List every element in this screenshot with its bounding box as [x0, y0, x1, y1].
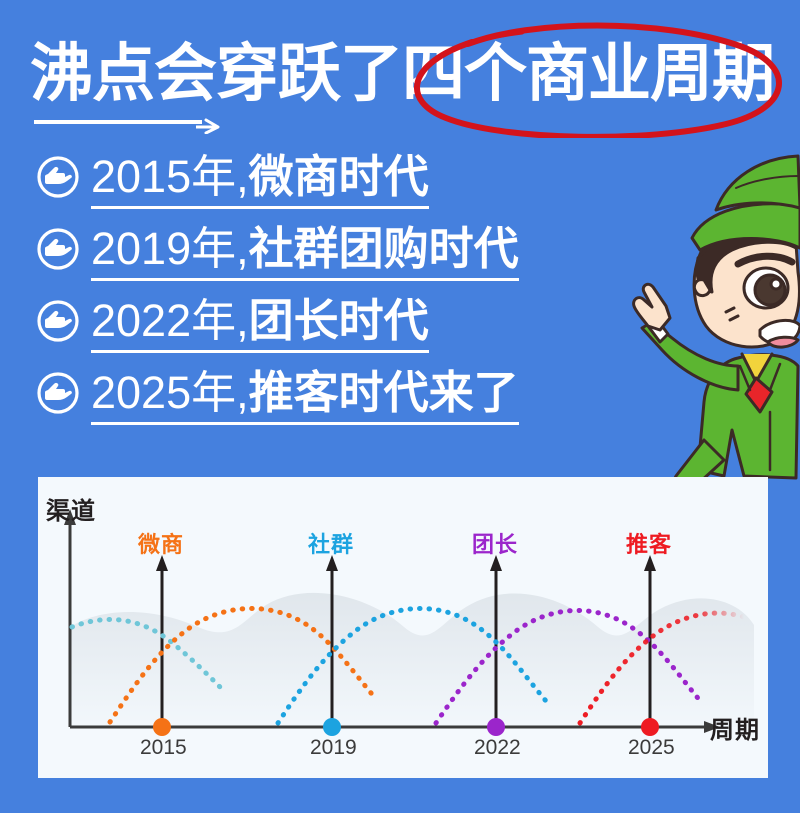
list-item-era: 微商时代 — [249, 151, 429, 202]
list-item-label: 2025年,推客时代来了 — [91, 366, 519, 425]
tick-label-2025: 2025 — [628, 736, 675, 760]
cycle-curves-chart — [38, 477, 768, 778]
bullet-list: 2015年,微商时代 2019年,社群团购时代 2022年,团长时代 2025年… — [36, 150, 636, 438]
list-item[interactable]: 2019年,社群团购时代 — [36, 222, 636, 294]
pointing-hand-circle-icon — [36, 299, 80, 343]
list-item-label: 2019年,社群团购时代 — [91, 222, 519, 281]
tick-label-2019: 2019 — [310, 736, 357, 760]
pointing-hand-circle-icon — [36, 227, 80, 271]
list-item-year: 2015年, — [91, 151, 249, 202]
title-underline-rule — [34, 120, 202, 124]
list-item[interactable]: 2015年,微商时代 — [36, 150, 636, 222]
chart-panel: 渠道 周期 微商 社群 团长 推客 2015 2019 2022 2025 — [38, 477, 768, 778]
headline-middle: 穿跃了 — [216, 38, 402, 110]
pointing-hand-circle-icon — [36, 155, 80, 199]
tick-label-2015: 2015 — [140, 736, 187, 760]
list-item[interactable]: 2022年,团长时代 — [36, 294, 636, 366]
list-item-label: 2015年,微商时代 — [91, 150, 429, 209]
era-label-tuike: 推客 — [626, 527, 672, 559]
headline-circled: 四个商业周期 — [402, 38, 774, 110]
arrow-right-icon — [196, 118, 220, 134]
list-item[interactable]: 2025年,推客时代来了 — [36, 366, 636, 438]
marker-dot-2019[interactable] — [323, 718, 341, 736]
list-item-label: 2022年,团长时代 — [91, 294, 429, 353]
list-item-year: 2022年, — [91, 295, 249, 346]
marker-dot-2025[interactable] — [641, 718, 659, 736]
marker-dot-2022[interactable] — [487, 718, 505, 736]
list-item-era: 推客时代来了 — [249, 367, 519, 418]
era-label-weishang: 微商 — [138, 527, 184, 559]
page-title: 沸点会穿跃了四个商业周期 — [30, 38, 790, 116]
era-label-tuanzhang: 团长 — [472, 527, 518, 559]
list-item-year: 2025年, — [91, 367, 249, 418]
cartoon-salesman-pointing-icon — [620, 140, 800, 500]
poster-root: 沸点会穿跃了四个商业周期 2015年,微商时代 2019年,社群团购时代 — [0, 0, 800, 813]
list-item-era: 社群团购时代 — [249, 223, 519, 274]
y-axis-label: 渠道 — [46, 491, 96, 526]
tick-label-2022: 2022 — [474, 736, 521, 760]
list-item-era: 团长时代 — [249, 295, 429, 346]
list-item-year: 2019年, — [91, 223, 249, 274]
marker-dot-2015[interactable] — [153, 718, 171, 736]
headline-brand: 沸点会 — [30, 38, 216, 110]
pointing-hand-circle-icon — [36, 371, 80, 415]
x-axis-label: 周期 — [710, 710, 760, 745]
era-label-shequn: 社群 — [308, 527, 354, 559]
